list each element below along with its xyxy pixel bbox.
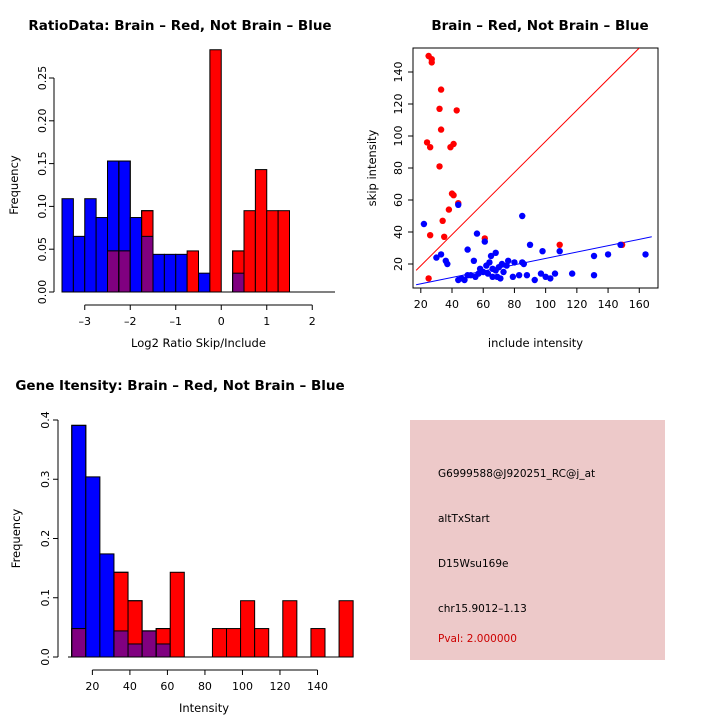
data-point xyxy=(436,163,442,169)
scatter-svg: 20406080100120140160include intensity204… xyxy=(360,0,720,360)
data-point xyxy=(464,246,470,252)
data-point xyxy=(455,202,461,208)
y-tick-label: 120 xyxy=(392,94,405,115)
histogram-bar xyxy=(176,254,187,292)
data-point xyxy=(446,206,452,212)
y-axis-label: Frequency xyxy=(7,155,21,215)
histogram-bar xyxy=(227,629,241,657)
y-axis-label: skip intensity xyxy=(365,129,379,206)
bar-overlap xyxy=(233,273,244,292)
histogram-bar xyxy=(128,601,142,657)
panel-info: G6999588@J920251_RC@j_at altTxStart D15W… xyxy=(360,360,720,720)
data-point xyxy=(482,238,488,244)
data-point xyxy=(489,274,495,280)
data-point xyxy=(527,242,533,248)
histogram-bar xyxy=(85,199,96,292)
x-tick-label: 80 xyxy=(198,680,212,693)
bar-not-brain xyxy=(176,254,187,292)
data-point xyxy=(441,234,447,240)
histogram-bar xyxy=(187,251,198,292)
data-point xyxy=(556,248,562,254)
y-axis-label: Frequency xyxy=(9,509,23,569)
x-tick-label: –1 xyxy=(170,315,183,328)
x-tick-label: 60 xyxy=(160,680,174,693)
info-probe-id: G6999588@J920251_RC@j_at xyxy=(438,468,595,480)
bar-not-brain xyxy=(164,254,175,292)
bar-not-brain xyxy=(72,425,86,657)
scatter-title: Brain – Red, Not Brain – Blue xyxy=(360,18,720,34)
scatter-area xyxy=(416,48,652,285)
y-tick-label: 0.1 xyxy=(39,589,52,607)
histogram-bar xyxy=(255,170,266,292)
data-point xyxy=(447,144,453,150)
x-tick-label: 120 xyxy=(566,298,587,311)
histogram-bar xyxy=(73,236,84,292)
x-tick-label: 160 xyxy=(629,298,650,311)
data-point xyxy=(438,86,444,92)
histogram-bar xyxy=(100,554,114,657)
data-point xyxy=(497,275,503,281)
histogram-bar xyxy=(72,425,86,657)
histogram-bar xyxy=(119,161,130,292)
info-gene-symbol: D15Wsu169e xyxy=(438,558,508,570)
data-point xyxy=(427,232,433,238)
bar-brain xyxy=(241,601,255,657)
y-tick-label: 140 xyxy=(392,62,405,83)
x-tick-label: 100 xyxy=(535,298,556,311)
bar-overlap xyxy=(108,251,119,292)
x-tick-label: 40 xyxy=(123,680,137,693)
x-axis-label: Intensity xyxy=(179,701,229,715)
data-point xyxy=(500,269,506,275)
gene-histogram-svg: 0.00.10.20.30.4Frequency2040608010012014… xyxy=(0,360,360,720)
y-tick-label: 0.00 xyxy=(36,280,49,305)
bar-not-brain xyxy=(130,218,141,292)
bar-not-brain xyxy=(62,199,73,292)
histogram-bar xyxy=(210,50,221,292)
data-point xyxy=(503,262,509,268)
data-point xyxy=(471,258,477,264)
bar-brain xyxy=(255,170,266,292)
data-point xyxy=(455,277,461,283)
x-axis-label: Log2 Ratio Skip/Include xyxy=(131,336,266,350)
data-point xyxy=(605,251,611,257)
y-tick-label: 0.20 xyxy=(36,109,49,134)
bar-overlap xyxy=(72,629,86,657)
bar-overlap xyxy=(128,644,142,657)
data-point xyxy=(429,59,435,65)
histogram-bar xyxy=(283,601,297,657)
histogram-bar xyxy=(96,218,107,292)
bar-brain xyxy=(278,211,289,292)
bar-brain xyxy=(283,601,297,657)
histogram-bar xyxy=(241,601,255,657)
data-point xyxy=(436,106,442,112)
y-tick-label: 100 xyxy=(392,126,405,147)
data-point xyxy=(433,254,439,260)
x-tick-label: –3 xyxy=(79,315,92,328)
bar-not-brain xyxy=(85,199,96,292)
histogram-bar xyxy=(62,199,73,292)
y-tick-label: 0.15 xyxy=(36,151,49,176)
bar-brain xyxy=(187,251,198,292)
data-point xyxy=(617,242,623,248)
bar-overlap xyxy=(114,631,128,657)
info-locus: chr15.9012–1.13 xyxy=(438,603,527,615)
data-point xyxy=(438,126,444,132)
bar-brain xyxy=(170,572,184,657)
bar-brain xyxy=(255,629,269,657)
bar-not-brain xyxy=(199,273,210,292)
y-tick-label: 20 xyxy=(392,257,405,271)
data-point xyxy=(421,221,427,227)
histogram-bar xyxy=(108,161,119,292)
bar-overlap xyxy=(119,251,130,292)
data-point xyxy=(521,261,527,267)
x-tick-label: 1 xyxy=(263,315,270,328)
bar-overlap xyxy=(142,236,153,292)
bar-brain xyxy=(210,50,221,292)
histogram-bar xyxy=(267,211,278,292)
panel-ratio-histogram: RatioData: Brain – Red, Not Brain – Blue… xyxy=(0,0,360,360)
data-point xyxy=(532,277,538,283)
y-tick-label: 60 xyxy=(392,193,405,207)
data-point xyxy=(591,253,597,259)
y-tick-label: 0.25 xyxy=(36,66,49,91)
data-point xyxy=(519,213,525,219)
x-tick-label: 20 xyxy=(85,680,99,693)
data-point xyxy=(453,107,459,113)
panel-scatter: Brain – Red, Not Brain – Blue 2040608010… xyxy=(360,0,720,360)
bar-overlap xyxy=(156,644,170,657)
data-point xyxy=(439,218,445,224)
data-point xyxy=(493,267,499,273)
info-event-type: altTxStart xyxy=(438,513,490,525)
panel-gene-histogram: Gene Itensity: Brain – Red, Not Brain – … xyxy=(0,360,360,720)
data-point xyxy=(552,270,558,276)
data-point xyxy=(511,259,517,265)
data-point xyxy=(516,272,522,278)
histogram-bar xyxy=(114,572,128,657)
y-tick-label: 0.05 xyxy=(36,237,49,262)
bar-not-brain xyxy=(100,554,114,657)
bar-not-brain xyxy=(153,254,164,292)
data-point xyxy=(488,253,494,259)
data-point xyxy=(642,251,648,257)
data-point xyxy=(483,262,489,268)
bar-brain xyxy=(212,629,226,657)
data-point xyxy=(547,275,553,281)
histogram-bar xyxy=(311,629,325,657)
histogram-bar xyxy=(164,254,175,292)
x-tick-label: 2 xyxy=(309,315,316,328)
x-axis-label: include intensity xyxy=(488,336,583,350)
x-tick-label: 140 xyxy=(307,680,328,693)
plot-grid: RatioData: Brain – Red, Not Brain – Blue… xyxy=(0,0,720,720)
histogram-bar xyxy=(86,477,100,657)
trend-line-brain-trend xyxy=(416,48,639,270)
x-tick-label: 40 xyxy=(445,298,459,311)
bar-brain xyxy=(227,629,241,657)
data-point xyxy=(427,144,433,150)
histogram-bar xyxy=(339,601,353,657)
data-point xyxy=(556,242,562,248)
gene-histogram-title: Gene Itensity: Brain – Red, Not Brain – … xyxy=(0,378,360,394)
histogram-bar xyxy=(199,273,210,292)
histogram-bar xyxy=(278,211,289,292)
ratio-histogram-title: RatioData: Brain – Red, Not Brain – Blue xyxy=(0,18,360,34)
bar-brain xyxy=(244,211,255,292)
y-tick-label: 0.10 xyxy=(36,194,49,219)
info-pval: Pval: 2.000000 xyxy=(438,633,517,645)
data-point xyxy=(569,270,575,276)
data-point xyxy=(474,230,480,236)
y-tick-label: 0.3 xyxy=(39,471,52,489)
data-point xyxy=(538,270,544,276)
bar-not-brain xyxy=(86,477,100,657)
ratio-histogram-svg: 0.000.050.100.150.200.25Frequency–3–2–10… xyxy=(0,0,360,360)
plot-frame xyxy=(413,48,658,288)
histogram-bar xyxy=(244,211,255,292)
bar-not-brain xyxy=(96,218,107,292)
histogram-bar xyxy=(156,629,170,657)
histogram-bar xyxy=(142,211,153,292)
data-point xyxy=(461,277,467,283)
info-box: G6999588@J920251_RC@j_at altTxStart D15W… xyxy=(410,420,665,660)
histogram-bar xyxy=(255,629,269,657)
data-point xyxy=(450,192,456,198)
bar-brain xyxy=(339,601,353,657)
x-tick-label: 100 xyxy=(232,680,253,693)
data-point xyxy=(510,274,516,280)
x-tick-label: 120 xyxy=(269,680,290,693)
x-tick-label: 80 xyxy=(507,298,521,311)
x-tick-label: 20 xyxy=(414,298,428,311)
histogram-bar xyxy=(212,629,226,657)
x-tick-label: 0 xyxy=(218,315,225,328)
y-tick-label: 80 xyxy=(392,161,405,175)
bar-brain xyxy=(311,629,325,657)
bar-not-brain xyxy=(73,236,84,292)
histogram-bar xyxy=(233,251,244,292)
x-tick-label: –2 xyxy=(124,315,137,328)
y-tick-label: 40 xyxy=(392,225,405,239)
histogram-bar xyxy=(130,218,141,292)
data-point xyxy=(539,248,545,254)
data-point xyxy=(472,274,478,280)
data-point xyxy=(524,272,530,278)
histogram-bar xyxy=(170,572,184,657)
bar-brain xyxy=(267,211,278,292)
histogram-bar xyxy=(153,254,164,292)
data-point xyxy=(444,261,450,267)
y-tick-label: 0.0 xyxy=(39,648,52,666)
bar-overlap xyxy=(142,631,156,657)
x-tick-label: 140 xyxy=(598,298,619,311)
y-tick-label: 0.2 xyxy=(39,530,52,548)
y-tick-label: 0.4 xyxy=(39,411,52,429)
data-point xyxy=(591,272,597,278)
histogram-bar xyxy=(142,631,156,657)
x-tick-label: 60 xyxy=(476,298,490,311)
data-point xyxy=(425,275,431,281)
